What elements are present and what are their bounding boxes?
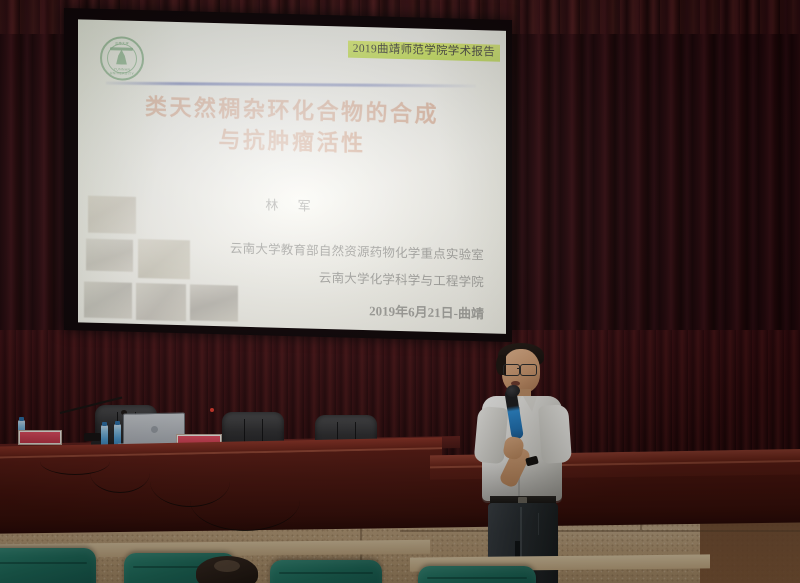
presenter-right-sleeve [538,404,572,464]
slide-divider-line [106,82,476,88]
name-card [18,430,62,445]
slide-photo-thumbnail [86,239,133,272]
slide-affiliation-school: 云南大学化学科学与工程学院 [319,270,484,291]
slide-photo-thumbnail [136,283,186,321]
glasses-bridge [517,368,521,369]
trouser-pocket [538,513,553,535]
cable [90,452,150,493]
lecture-photo-scene: 云南大学 YUNNAN UNIVERSITY 2019曲靖师范学院学术报告 类天… [0,0,800,583]
floor-seam [400,530,800,532]
laptop-logo-icon [151,426,158,433]
presenter-person [468,341,588,583]
slide-speaker-name: 林 军 [78,189,506,220]
slide-photo-thumbnail [190,284,238,321]
audience-seat [270,560,382,583]
slide-date-location: 2019年6月21日-曲靖 [369,300,484,322]
glasses-icon [520,364,537,376]
slide-photo-thumbnail [138,239,190,279]
seat-crease [0,562,87,564]
slide-photo-thumbnail [84,281,132,318]
cable [190,470,300,531]
microphone-base-unit [84,433,101,441]
presenter-left-sleeve [474,406,509,464]
slide-photo-thumbnail [88,196,136,234]
seat-crease [279,572,373,574]
name-card-text [20,432,60,443]
slide-title: 类天然稠杂环化合物的合成 与抗肿瘤活性 [78,89,506,163]
university-seal-icon: 云南大学 YUNNAN UNIVERSITY [100,36,144,81]
slide-affiliation-lab: 云南大学教育部自然资源药物化学重点实验室 [230,240,484,264]
audience-seat [0,548,96,583]
microphone-indicator-led [210,408,214,412]
audience-seat [418,566,536,583]
glasses-icon [503,364,520,376]
projection-screen: 云南大学 YUNNAN UNIVERSITY 2019曲靖师范学院学术报告 类天… [78,19,506,334]
seal-text-top: 云南大学 [102,40,142,46]
bottle-cap [19,417,24,421]
audience-hair-highlight [214,560,240,572]
seat-crease [427,577,526,579]
conference-banner: 2019曲靖师范学院学术报告 [348,41,500,62]
projection-screen-frame: 云南大学 YUNNAN UNIVERSITY 2019曲靖师范学院学术报告 类天… [64,8,512,342]
seal-text-bottom: YUNNAN UNIVERSITY [102,67,142,76]
bottle-cap [115,421,120,425]
bottle-cap [102,422,107,426]
